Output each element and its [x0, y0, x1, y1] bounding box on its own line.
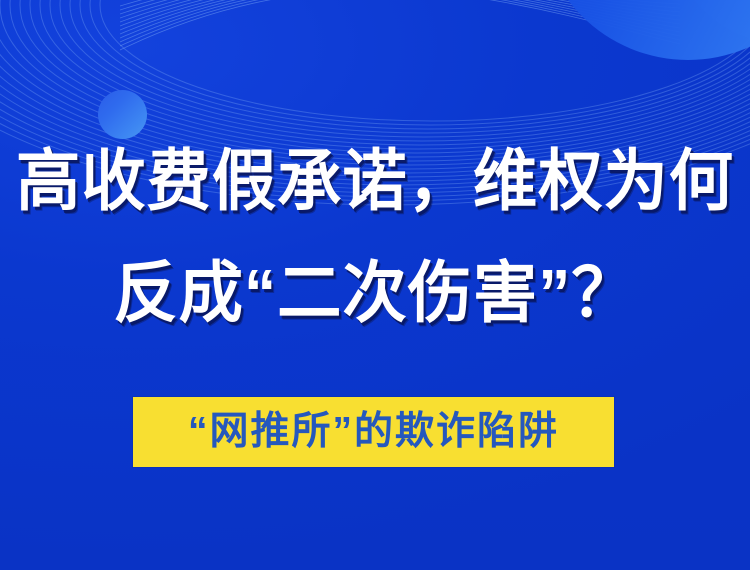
- subtitle-text: “网推所”的欺诈陷阱: [188, 412, 559, 451]
- headline-block: 高收费假承诺，维权为何 反成“二次伤害”？: [0, 148, 750, 327]
- poster-canvas: 高收费假承诺，维权为何 反成“二次伤害”？ “网推所”的欺诈陷阱: [0, 0, 750, 570]
- accent-circle: [98, 90, 147, 139]
- subtitle-band: “网推所”的欺诈陷阱: [133, 397, 614, 467]
- headline-line-1: 高收费假承诺，维权为何: [15, 148, 735, 215]
- headline-line-2: 反成“二次伤害”？: [15, 260, 735, 327]
